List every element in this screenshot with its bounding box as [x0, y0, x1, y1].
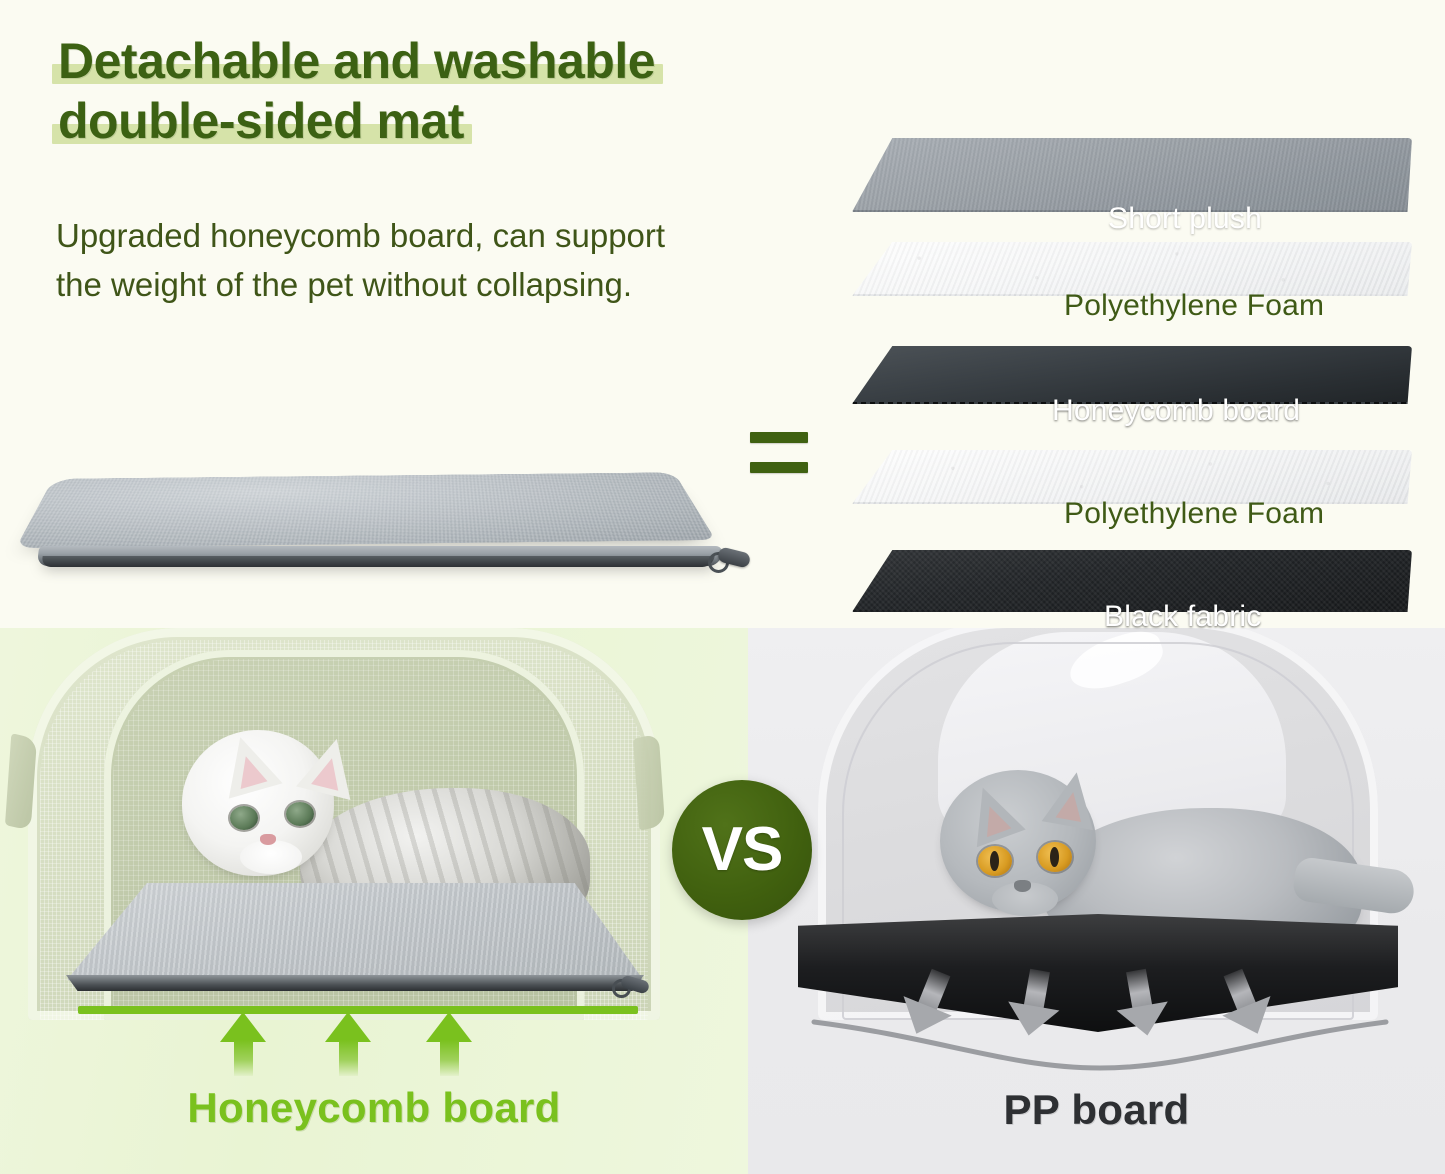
up-arrow-icon [426, 1012, 472, 1074]
cat-eye-left [978, 846, 1012, 876]
label-honeycomb-board: Honeycomb board [0, 1084, 748, 1132]
cat-muzzle [240, 840, 302, 874]
mat-surface [66, 883, 644, 981]
mat-bottom-edge [41, 556, 714, 567]
layer-label: Black fabric [1104, 600, 1261, 634]
mat-plush-surface [16, 472, 716, 548]
layer-label: Short plush [1108, 202, 1262, 236]
support-indicator-up [78, 1006, 638, 1076]
layer-label: Polyethylene Foam [1064, 289, 1324, 323]
cat-nose [260, 834, 276, 845]
subheadline-line-2: the weight of the pet without collapsing… [56, 261, 816, 310]
cat-head [182, 730, 334, 876]
layer-slab [852, 242, 1412, 296]
headline-line-2: double-sided mat [58, 94, 464, 148]
vs-badge-text: VS [702, 819, 783, 881]
comparison-panel-honeycomb: Honeycomb board [0, 628, 748, 1174]
zipper-pull-icon [708, 548, 754, 574]
cat-ear-left [958, 779, 1025, 848]
layer-slab [852, 138, 1412, 212]
subheadline: Upgraded honeycomb board, can support th… [56, 212, 816, 310]
mat-edge [66, 975, 644, 991]
cat-nose [1014, 880, 1031, 892]
headline-line-1: Detachable and washable [58, 34, 655, 88]
cat-eye-left [230, 806, 258, 830]
headline-line-2-text: double-sided mat [58, 93, 464, 149]
comparison-section: Honeycomb board [0, 628, 1445, 1174]
equals-bar-bottom [750, 462, 808, 473]
layer-slab [852, 450, 1412, 504]
product-mat-photo [18, 398, 738, 588]
flat-honeycomb-mat [66, 883, 644, 995]
cat-eye-right [286, 802, 314, 826]
sag-indicator-down [810, 1016, 1390, 1086]
equals-sign-icon [750, 432, 808, 482]
cat-ear-left [213, 729, 282, 798]
equals-bar-top [750, 432, 808, 443]
carrier-strap-right [633, 733, 665, 831]
up-arrow-icon [325, 1012, 371, 1074]
pp-board-sheen [798, 914, 1398, 1032]
subheadline-line-1: Upgraded honeycomb board, can support [56, 212, 816, 261]
cat-head [940, 770, 1096, 912]
cat-ear-right [1042, 768, 1103, 830]
label-pp-board: PP board [748, 1086, 1445, 1134]
zipper-pull-icon [612, 975, 654, 999]
cat-ear-right [296, 732, 364, 800]
layer-label: Honeycomb board [1052, 394, 1300, 428]
layer-stack-diagram: Short plush Polyethylene Foam Honeycomb … [852, 138, 1432, 578]
layer-label: Polyethylene Foam [1064, 497, 1324, 531]
vs-badge: VS [672, 780, 812, 920]
headline: Detachable and washable double-sided mat [58, 34, 848, 154]
comparison-panel-pp: PP board [748, 628, 1445, 1174]
top-panel: Detachable and washable double-sided mat… [0, 0, 1445, 628]
infographic-page: Detachable and washable double-sided mat… [0, 0, 1445, 1174]
cat-eye-right [1038, 842, 1072, 872]
headline-line-1-text: Detachable and washable [58, 33, 655, 89]
up-arrow-icon [220, 1012, 266, 1074]
